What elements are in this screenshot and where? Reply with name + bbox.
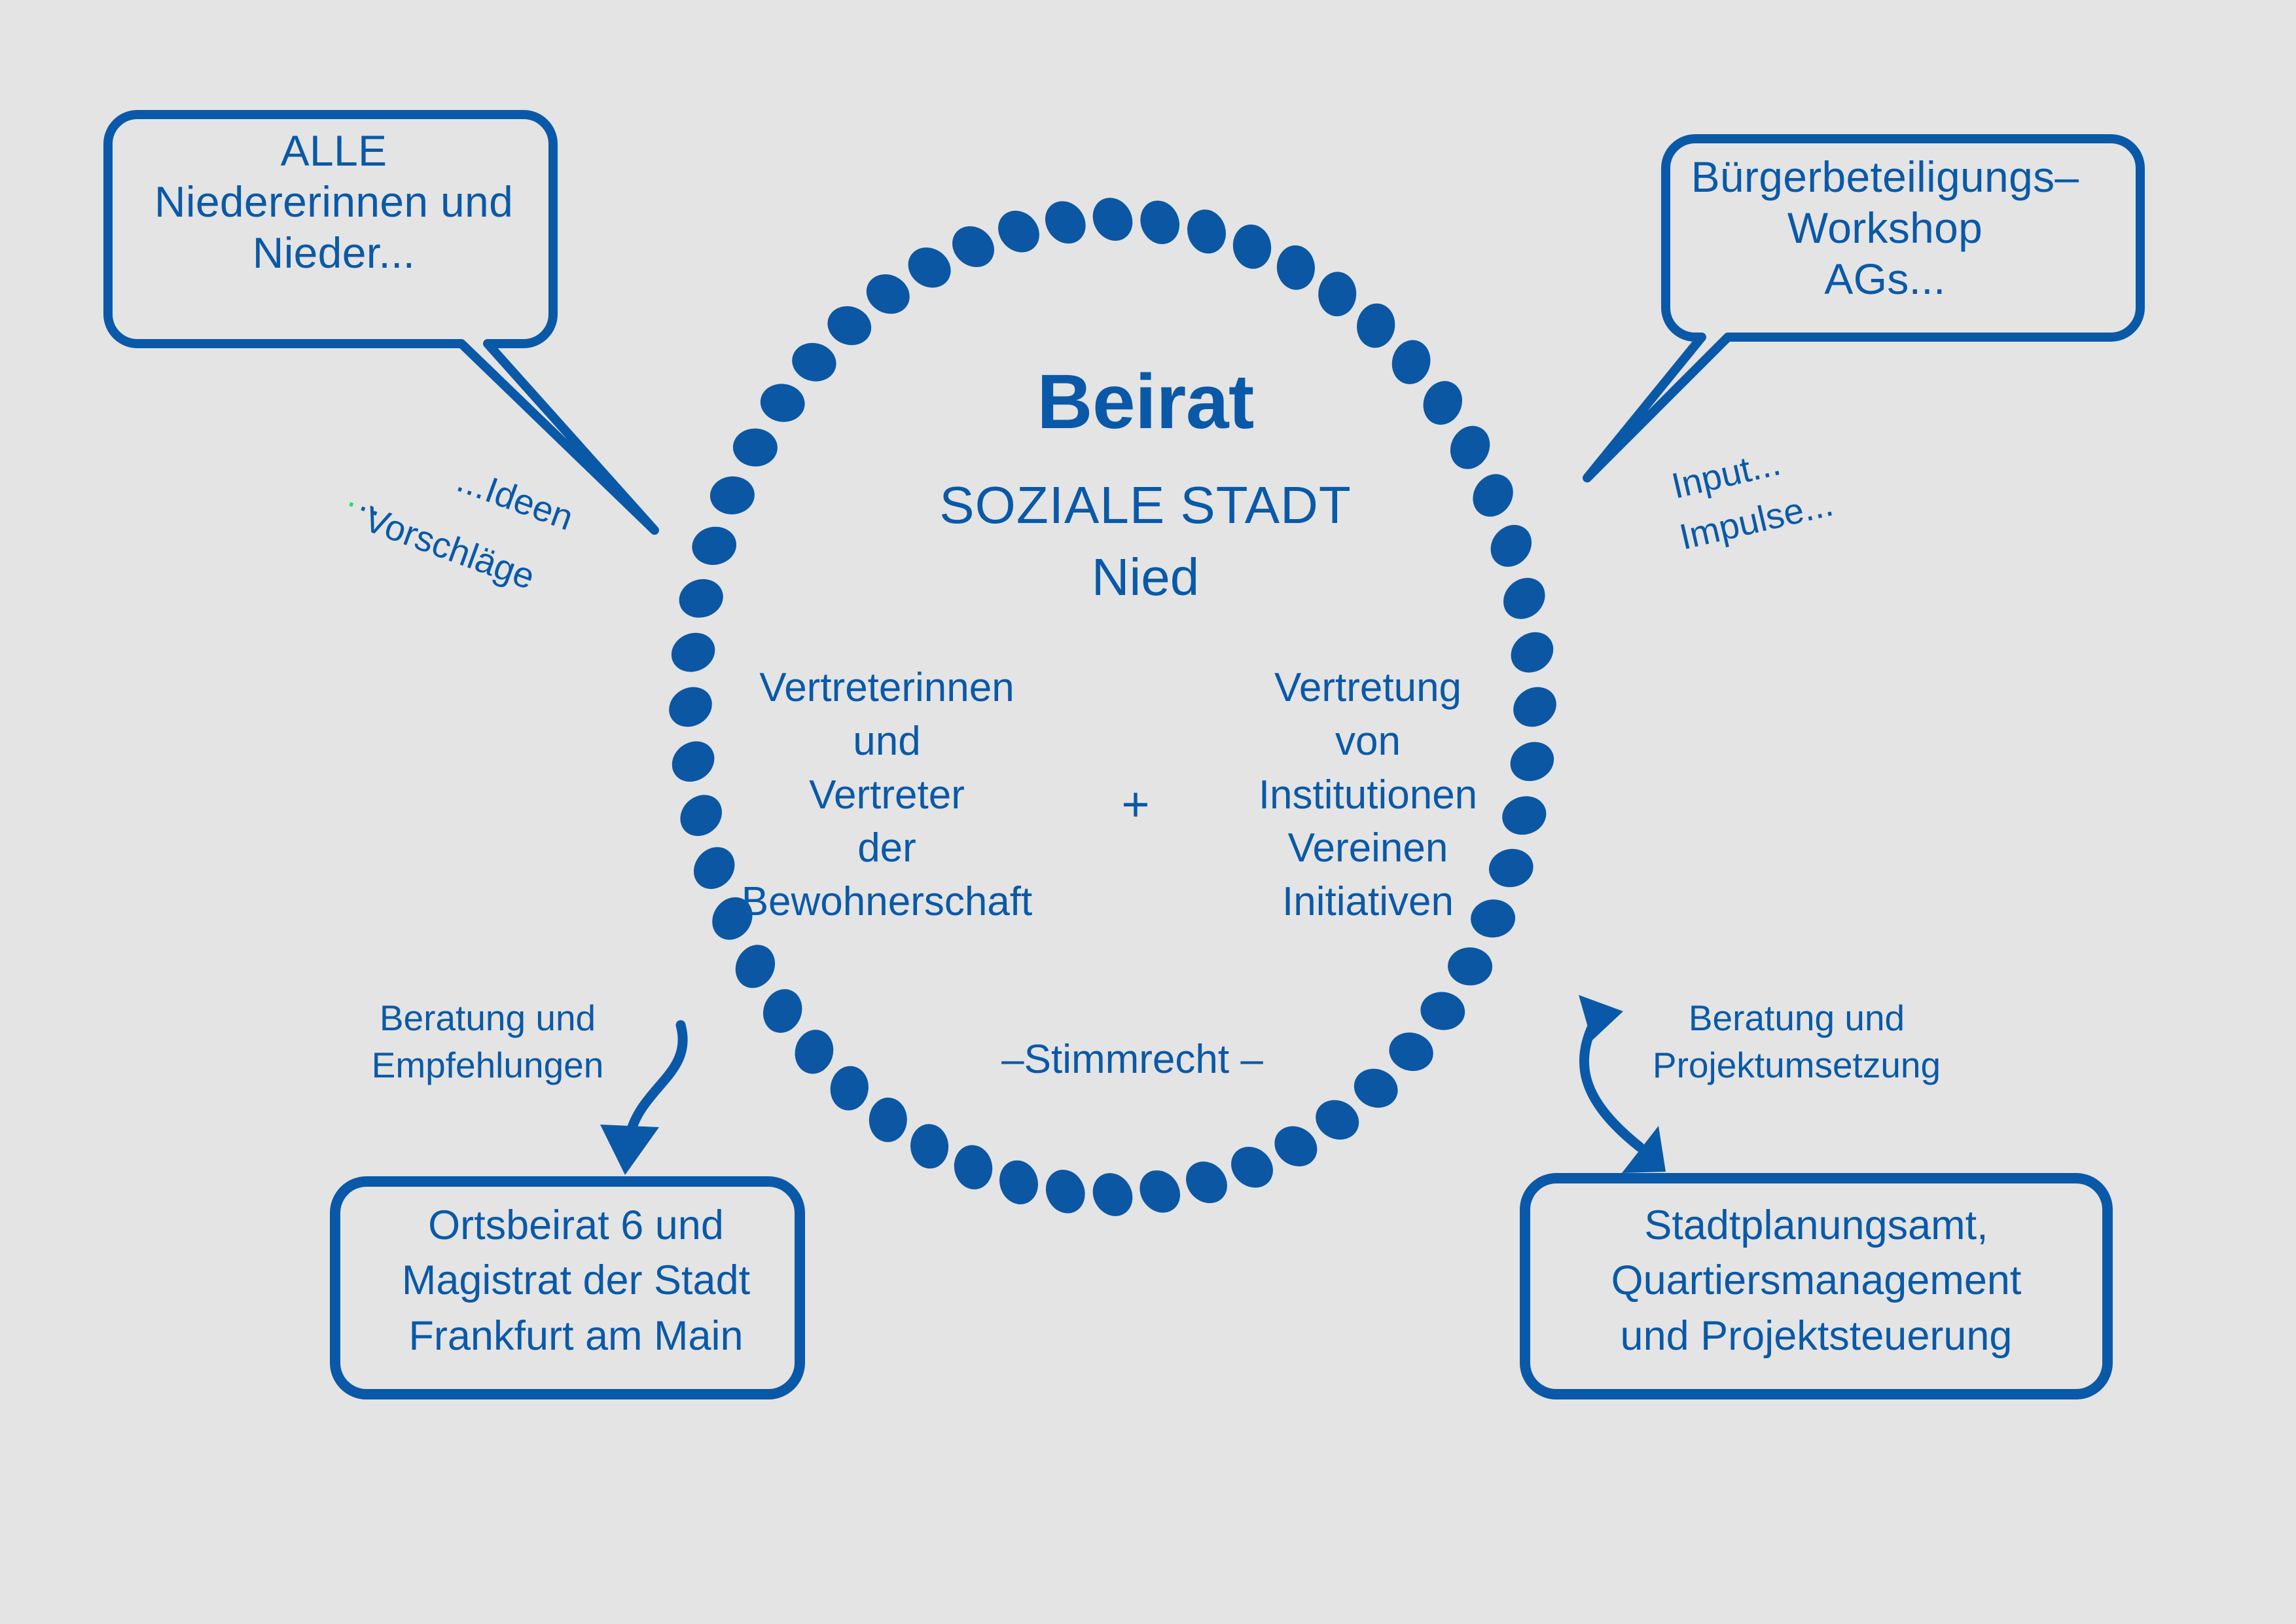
box-left-label: Ortsbeirat 6 und Magistrat der Stadt Fra… — [347, 1198, 805, 1363]
bubble-right-label: Bürgerbeteiligungs– Workshop AGs... — [1643, 152, 2127, 305]
circle-dot — [1354, 301, 1398, 351]
circle-dot — [909, 1123, 950, 1170]
circle-dot — [1182, 205, 1231, 259]
circle-dot — [758, 381, 808, 425]
circle-dot — [859, 267, 916, 321]
circle-dot — [1037, 193, 1094, 251]
circle-dot — [827, 1064, 872, 1113]
circle-dot — [950, 1142, 996, 1193]
subtitle: SOZIALE STADT — [818, 475, 1473, 536]
circle-dot — [1134, 194, 1186, 251]
circle-dot — [788, 338, 841, 386]
circle-dot — [944, 218, 1002, 276]
circle-dot — [1085, 1166, 1140, 1223]
page-title: Beirat — [844, 357, 1446, 448]
circle-dot — [1229, 221, 1275, 272]
circle-dot — [1223, 1138, 1281, 1196]
voting-note: –Stimmrecht – — [936, 1036, 1329, 1083]
circle-dot — [1132, 1163, 1189, 1221]
circle-dot — [1348, 1062, 1403, 1114]
circle-dot — [689, 523, 740, 569]
circle-dot — [1482, 516, 1540, 575]
circle-dot — [994, 1155, 1043, 1209]
circle-dot — [1465, 466, 1521, 524]
circle-dot — [790, 1025, 838, 1078]
circle-dot — [728, 938, 782, 995]
circle-dot — [1085, 190, 1140, 248]
circle-dot — [1447, 947, 1493, 986]
box-right-label: Stadtplanungsamt, Quartiersmanagement un… — [1545, 1198, 2088, 1363]
plus-symbol: + — [1086, 776, 1185, 833]
circle-dot — [822, 300, 877, 352]
circle-dot — [732, 427, 778, 467]
circle-dot — [757, 983, 808, 1038]
bubble-left-label: ALLE Niedererinnen und Nieder... — [92, 126, 576, 279]
circle-dot — [869, 1097, 908, 1143]
circle-dot — [990, 202, 1048, 261]
circle-dot — [1443, 419, 1498, 476]
members-institutions: Vertretung von Institutionen Vereinen In… — [1181, 661, 1554, 929]
circle-dot — [1495, 569, 1553, 628]
circle-dot — [674, 573, 728, 623]
arrow-label-left: Beratung und Empfehlungen — [347, 995, 628, 1089]
arrow-label-right: Beratung und Projektumsetzung — [1643, 995, 1950, 1089]
circle-dot — [1177, 1153, 1236, 1212]
circle-dot — [1385, 1028, 1438, 1076]
circle-dot — [1039, 1164, 1092, 1220]
circle-dot — [709, 475, 756, 516]
circle-dot — [1309, 1092, 1366, 1147]
location-label: Nied — [844, 547, 1446, 608]
circle-dot — [901, 240, 959, 296]
diagram-canvas: ALLE Niedererinnen und Nieder... Bürgerb… — [0, 0, 2296, 1624]
circle-dot — [1318, 271, 1357, 317]
circle-dot — [1418, 989, 1467, 1034]
circle-dot — [1266, 1118, 1325, 1174]
circle-dot — [1275, 244, 1316, 291]
members-residents: Vertreterinnen und Vertreter der Bewohne… — [684, 661, 1090, 929]
